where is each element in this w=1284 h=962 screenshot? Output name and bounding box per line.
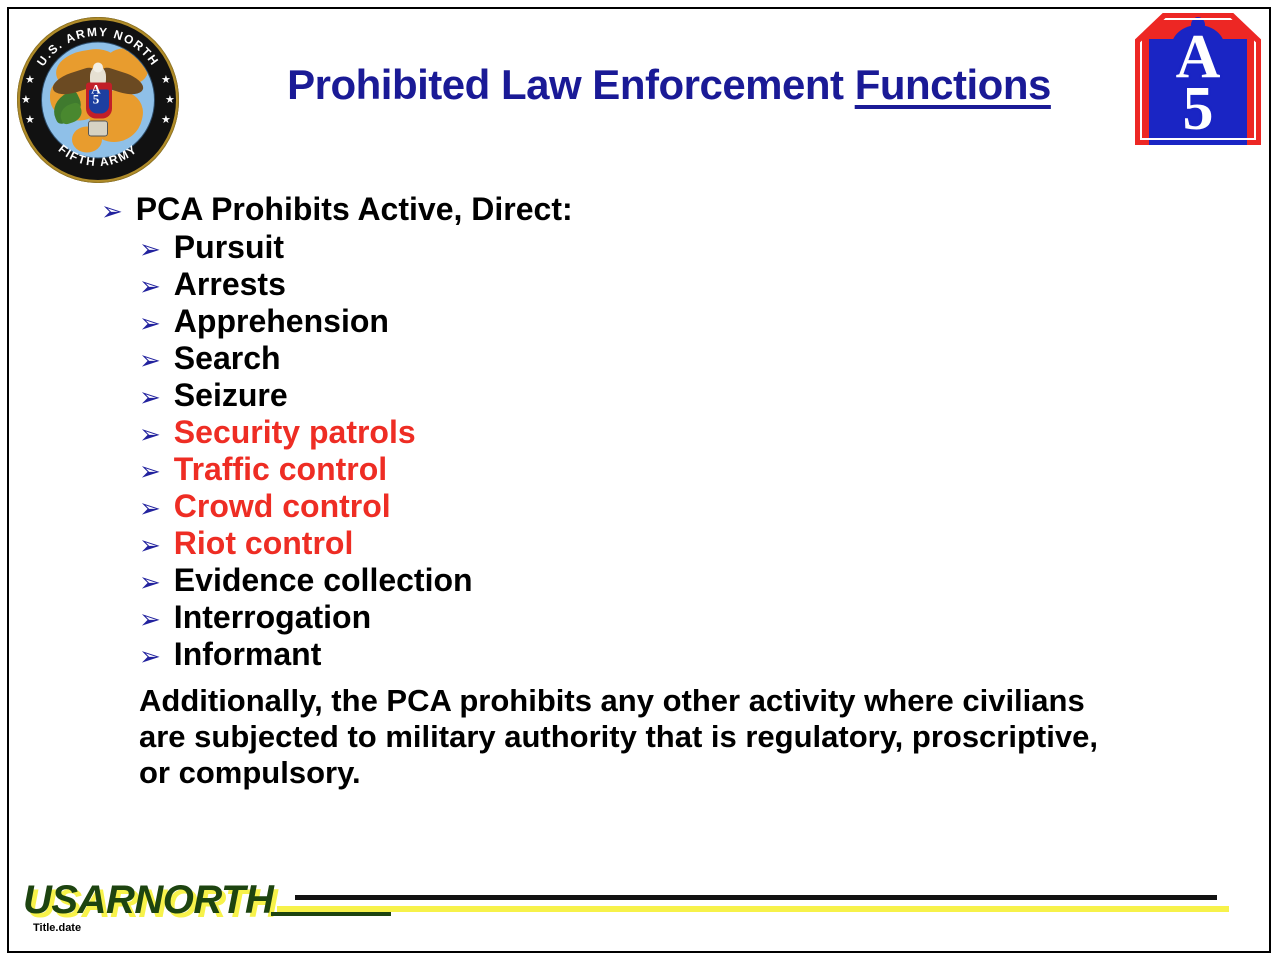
bullet-item: ➢Interrogation <box>139 599 1269 636</box>
slide-title: Prohibited Law Enforcement Functions <box>189 61 1149 109</box>
bullet-item: ➢PCA Prohibits Active, Direct: <box>101 189 1269 229</box>
arrow-bullet-icon: ➢ <box>139 274 161 300</box>
arrow-bullet-icon: ➢ <box>139 570 161 596</box>
footer-rule-black <box>295 895 1217 900</box>
footer-rule-yellow <box>277 906 1229 912</box>
arrow-bullet-icon: ➢ <box>101 199 123 225</box>
slide-header: A5 U.S. ARMY NORTH FIFTH ARMY ★ ★ <box>9 9 1269 189</box>
patch-number: 5 <box>1183 75 1214 143</box>
arrow-bullet-icon: ➢ <box>139 348 161 374</box>
slide-canvas: A5 U.S. ARMY NORTH FIFTH ARMY ★ ★ <box>7 7 1271 953</box>
slide-body: ➢PCA Prohibits Active, Direct:➢Pursuit➢A… <box>9 189 1269 822</box>
fifth-army-shoulder-patch-icon: A5 <box>1135 13 1261 145</box>
bullet-label: Search <box>174 340 281 377</box>
footer-rule-green <box>271 912 391 916</box>
seal-star-icon: ★ <box>161 75 171 86</box>
bullet-list: ➢PCA Prohibits Active, Direct:➢Pursuit➢A… <box>9 189 1269 673</box>
seal-star-icon: ★ <box>161 115 171 126</box>
bullet-label: Crowd control <box>174 488 391 525</box>
seal-star-icon: ★ <box>25 115 35 126</box>
arrow-bullet-icon: ➢ <box>139 385 161 411</box>
slide-footer: USARNORTH Title.date <box>9 865 1269 945</box>
bullet-item: ➢Crowd control <box>139 488 1269 525</box>
bullet-label: Evidence collection <box>174 562 473 599</box>
arrow-bullet-icon: ➢ <box>139 496 161 522</box>
bullet-label: Apprehension <box>174 303 389 340</box>
bullet-label: Interrogation <box>174 599 371 636</box>
bullet-item: ➢Security patrols <box>139 414 1269 451</box>
bullet-label: Pursuit <box>174 229 284 266</box>
slide-title-underlined: Functions <box>855 61 1051 108</box>
arrow-bullet-icon: ➢ <box>139 422 161 448</box>
seal-star-icon: ★ <box>21 95 31 106</box>
seal-star-icon: ★ <box>165 95 175 106</box>
bullet-label: Riot control <box>174 525 354 562</box>
bullet-label: PCA Prohibits Active, Direct: <box>136 189 573 229</box>
arrow-bullet-icon: ➢ <box>139 607 161 633</box>
arrow-bullet-icon: ➢ <box>139 644 161 670</box>
bullet-item: ➢Evidence collection <box>139 562 1269 599</box>
bullet-item: ➢Arrests <box>139 266 1269 303</box>
title-date-placeholder: Title.date <box>33 922 81 934</box>
seal-star-icon: ★ <box>25 75 35 86</box>
bullet-item: ➢Traffic control <box>139 451 1269 488</box>
bullet-item: ➢Seizure <box>139 377 1269 414</box>
arrow-bullet-icon: ➢ <box>139 237 161 263</box>
arrow-bullet-icon: ➢ <box>139 459 161 485</box>
bullet-label: Seizure <box>174 377 288 414</box>
bullet-label: Informant <box>174 636 322 673</box>
bullet-label: Arrests <box>174 266 286 303</box>
bullet-label: Security patrols <box>174 414 416 451</box>
usarnorth-wordmark: USARNORTH <box>23 879 273 921</box>
bullet-label: Traffic control <box>174 451 387 488</box>
slide-title-main: Prohibited Law Enforcement <box>287 61 855 108</box>
bullet-item: ➢Riot control <box>139 525 1269 562</box>
bullet-item: ➢Search <box>139 340 1269 377</box>
bullet-item: ➢Pursuit <box>139 229 1269 266</box>
bullet-item: ➢Informant <box>139 636 1269 673</box>
arrow-bullet-icon: ➢ <box>139 311 161 337</box>
seal-center-emblem: A5 <box>42 43 154 158</box>
bullet-item: ➢Apprehension <box>139 303 1269 340</box>
arrow-bullet-icon: ➢ <box>139 533 161 559</box>
us-army-north-seal-icon: A5 U.S. ARMY NORTH FIFTH ARMY ★ ★ <box>17 17 179 183</box>
patch-a5-label: A5 <box>1135 31 1261 135</box>
closing-paragraph: Additionally, the PCA prohibits any othe… <box>139 683 1119 791</box>
